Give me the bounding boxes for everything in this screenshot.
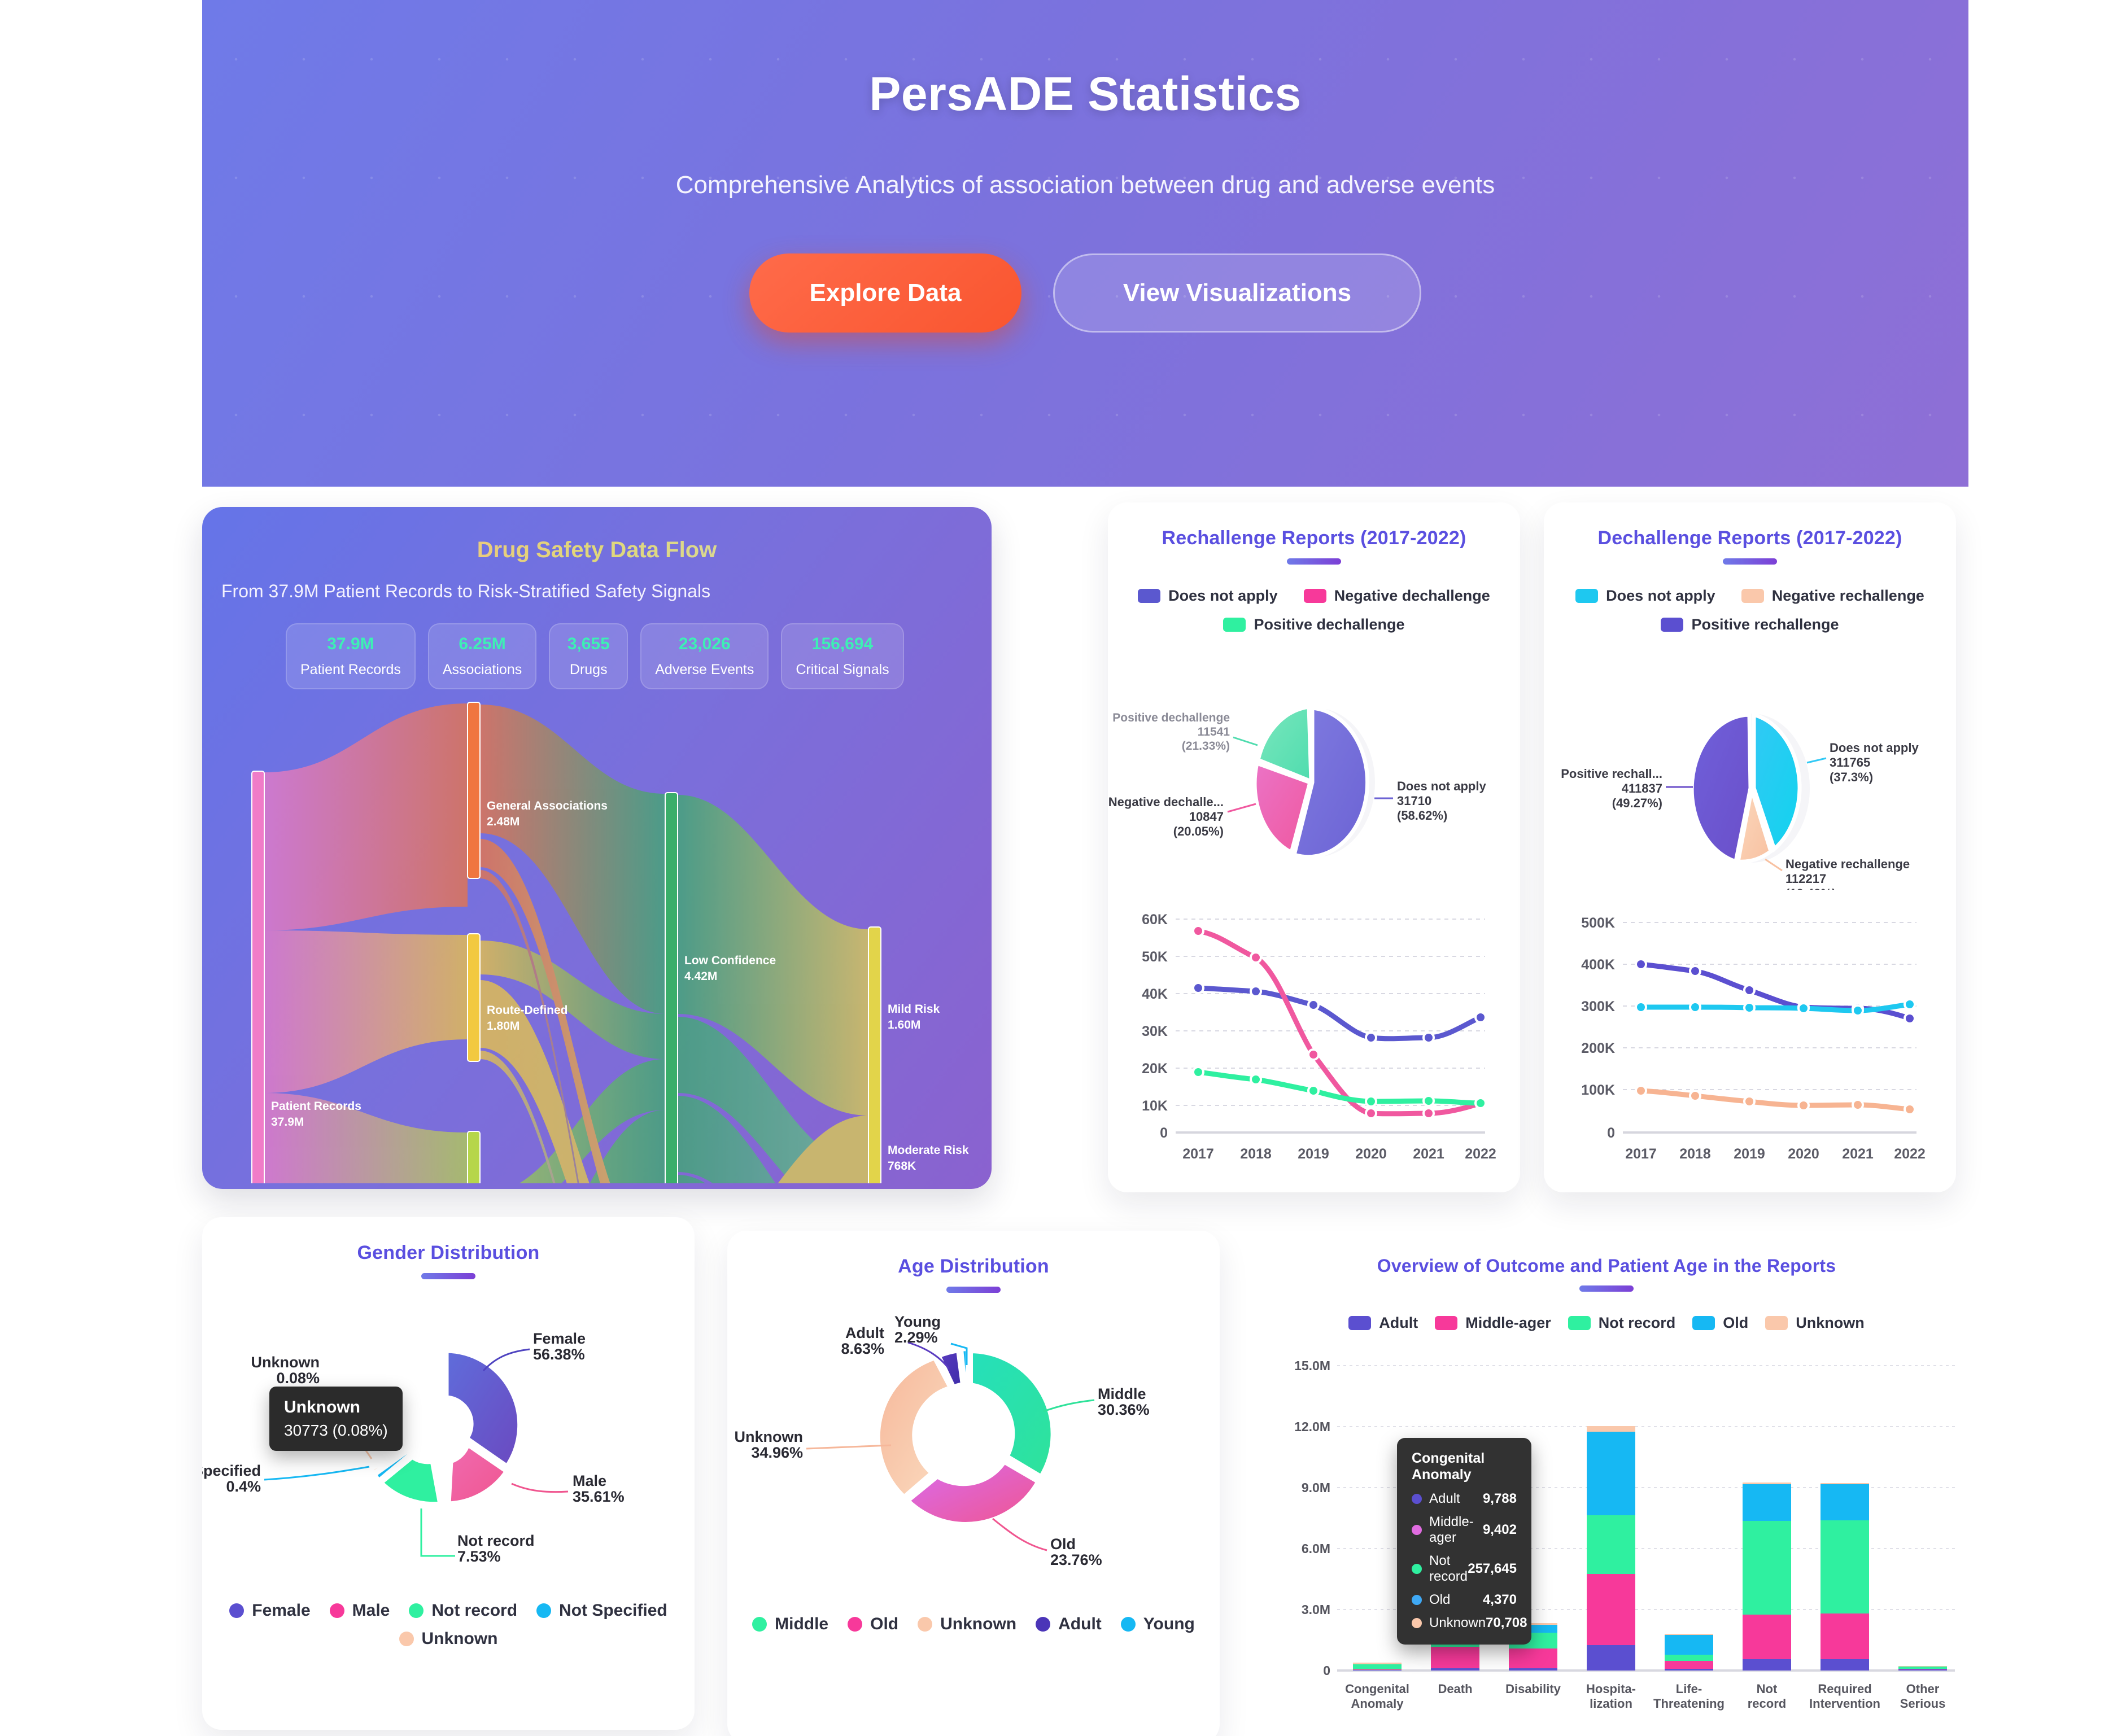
donut-pct-not-specified: 0.4% <box>226 1478 261 1495</box>
tooltip-title: Unknown <box>284 1398 388 1417</box>
pie-annotation-positive-pct: (49.27%) <box>1612 796 1662 810</box>
legend-label: Does not apply <box>1168 587 1278 605</box>
node-label-8: Mild Risk <box>888 1003 940 1016</box>
age-legend: Middle Old Unknown Adult Young <box>727 1615 1220 1634</box>
tooltip-dot <box>1412 1525 1422 1535</box>
rechallenge-line-chart: 60K50K 40K30K 20K10K 0 20172018 20192020… <box>1108 900 1520 1165</box>
pie-annotation-negative-value: 112217 <box>1785 872 1826 886</box>
xtick-hospitalization-2: lization <box>1590 1696 1632 1711</box>
legend-dot <box>1121 1617 1136 1632</box>
node-value-8: 1.60M <box>888 1018 920 1031</box>
tooltip-row-value: 4,370 <box>1483 1592 1517 1608</box>
stat-value: 156,694 <box>796 635 889 654</box>
title-underline <box>1579 1285 1634 1292</box>
gender-legend: Female Male Not record Not Specified Unk… <box>202 1601 695 1648</box>
outcome-title: Overview of Outcome and Patient Age in t… <box>1242 1231 1971 1276</box>
legend-label: Adult <box>1058 1615 1102 1634</box>
legend-item-does-not-apply[interactable]: Does not apply <box>1575 587 1715 605</box>
title-underline <box>1287 558 1341 565</box>
donut-label-not-record: Not record <box>457 1532 535 1549</box>
dechallenge-title: Dechallenge Reports (2017-2022) <box>1544 502 1956 549</box>
tooltip-row-label: Adult <box>1429 1491 1483 1507</box>
tooltip-row-label: Not record <box>1429 1553 1468 1585</box>
age-donut-wrap: Middle 30.36% Old 23.76% Unknown 34.96% … <box>727 1298 1220 1615</box>
hero-button-group: Explore Data View Visualizations <box>202 253 1968 333</box>
stat-label: Associations <box>443 662 522 678</box>
legend-item-unknown[interactable]: Unknown <box>918 1615 1016 1634</box>
legend-label: Middle-ager <box>1465 1314 1551 1332</box>
xtick-life-threatening-2: Threatening <box>1653 1696 1725 1711</box>
ytick-0: 0 <box>1607 1125 1615 1141</box>
ytick-9m: 9.0M <box>1302 1480 1330 1495</box>
sankey-stat-chips: 37.9M Patient Records 6.25M Associations… <box>286 623 992 689</box>
ytick-6m: 6.0M <box>1302 1541 1330 1556</box>
hero-banner: PersADE Statistics Comprehensive Analyti… <box>202 0 1968 487</box>
node-value-2: 1.80M <box>487 1020 519 1033</box>
legend-swatch <box>1692 1316 1715 1330</box>
page-title: PersADE Statistics <box>202 67 1968 121</box>
gender-donut-wrap: Female 56.38% Male 35.61% Not record 7.5… <box>202 1285 695 1601</box>
donut-label-female: Female <box>533 1330 586 1347</box>
legend-item-old[interactable]: Old <box>848 1615 898 1634</box>
dechallenge-pie-wrap: Does not apply 311765 (37.3%) Negative r… <box>1544 647 1956 890</box>
page-subtitle: Comprehensive Analytics of association b… <box>202 171 1968 199</box>
tooltip-row-value: 9,788 <box>1483 1491 1517 1507</box>
node-value-1: 2.48M <box>487 815 519 828</box>
node-label-1: General Associations <box>487 799 608 812</box>
ytick-40k: 40K <box>1142 986 1168 1002</box>
tooltip-row-label: Middle-ager <box>1429 1514 1483 1546</box>
rechallenge-line-wrap: 60K50K 40K30K 20K10K 0 20172018 20192020… <box>1108 900 1520 1165</box>
legend-label: Negative dechallenge <box>1334 587 1490 605</box>
tooltip-dot <box>1412 1494 1422 1504</box>
xtick-congenital-1: Congenital <box>1345 1682 1409 1696</box>
donut-pct-unknown: 0.08% <box>276 1370 320 1387</box>
age-donut-chart: Middle 30.36% Old 23.76% Unknown 34.96% … <box>727 1298 1220 1615</box>
donut-label-unknown: Unknown <box>251 1354 320 1371</box>
legend-swatch <box>1348 1316 1371 1330</box>
legend-item-positive-dechallenge[interactable]: Positive dechallenge <box>1223 616 1404 633</box>
legend-dot <box>752 1617 767 1632</box>
xtick-life-threatening-1: Life- <box>1676 1682 1702 1696</box>
rechallenge-title: Rechallenge Reports (2017-2022) <box>1108 502 1520 549</box>
legend-swatch <box>1304 589 1326 603</box>
legend-label: Old <box>1723 1314 1748 1332</box>
age-distribution-card: Age Distribution <box>727 1231 1220 1736</box>
legend-dot <box>229 1603 244 1618</box>
stat-label: Adverse Events <box>655 662 754 678</box>
xtick-2018: 2018 <box>1240 1146 1272 1162</box>
donut-pct-middle: 30.36% <box>1098 1401 1150 1418</box>
gender-title: Gender Distribution <box>202 1217 695 1264</box>
legend-label: Middle <box>775 1615 828 1634</box>
stat-value: 3,655 <box>564 635 613 654</box>
sankey-title: Drug Safety Data Flow <box>202 537 992 563</box>
pie-annotation-does-not-apply-label: Does not apply <box>1830 741 1919 755</box>
rechallenge-reports-card: Rechallenge Reports (2017-2022) Does not… <box>1108 502 1520 1192</box>
donut-label-young: Young <box>894 1313 941 1330</box>
legend-item-negative-rechallenge[interactable]: Negative rechallenge <box>1741 587 1924 605</box>
stat-value: 6.25M <box>443 635 522 654</box>
legend-item-old[interactable]: Old <box>1692 1314 1748 1332</box>
stat-label: Critical Signals <box>796 662 889 678</box>
legend-label: Not record <box>431 1601 517 1620</box>
stat-chip-adverse-events: 23,026 Adverse Events <box>640 623 769 689</box>
donut-label-middle: Middle <box>1098 1385 1146 1402</box>
ytick-300k: 300K <box>1581 999 1615 1015</box>
pie-annotation-positive-value: 11541 <box>1198 725 1230 738</box>
xtick-not-record-2: record <box>1748 1696 1786 1711</box>
gender-distribution-card: Gender Distribution <box>202 1217 695 1730</box>
legend-item-not-record[interactable]: Not record <box>1568 1314 1676 1332</box>
ytick-20k: 20K <box>1142 1061 1168 1077</box>
legend-item-does-not-apply[interactable]: Does not apply <box>1138 587 1278 605</box>
age-title: Age Distribution <box>727 1231 1220 1278</box>
legend-label: Unknown <box>422 1629 498 1648</box>
legend-label: Adult <box>1379 1314 1418 1332</box>
xtick-other-serious-1: Other <box>1906 1682 1940 1696</box>
node-label-9: Moderate Risk <box>888 1144 969 1157</box>
tooltip-row-value: 70,708 <box>1486 1615 1527 1631</box>
legend-swatch <box>1741 589 1764 603</box>
donut-pct-male: 35.61% <box>573 1488 625 1505</box>
legend-dot <box>330 1603 344 1618</box>
drug-safety-data-flow-card: Drug Safety Data Flow From 37.9M Patient… <box>202 507 992 1189</box>
stat-label: Drugs <box>564 662 613 678</box>
bar-group-other-serious[interactable] <box>1898 1666 1947 1671</box>
stat-chip-patient-records: 37.9M Patient Records <box>286 623 416 689</box>
node-label-5: Low Confidence <box>684 954 776 967</box>
tooltip-dot <box>1412 1564 1422 1574</box>
legend-label: Unknown <box>1796 1314 1865 1332</box>
stat-chip-associations: 6.25M Associations <box>428 623 536 689</box>
legend-dot <box>918 1617 932 1632</box>
pie-annotation-positive-pct: (21.33%) <box>1182 740 1230 753</box>
sankey-subtitle: From 37.9M Patient Records to Risk-Strat… <box>221 581 992 602</box>
dechallenge-line-chart: 500K400K 300K200K 100K0 20172018 2019202… <box>1544 900 1956 1165</box>
outcome-legend: Adult Middle-ager Not record Old Unknown <box>1242 1314 1971 1332</box>
legend-item-middle-ager[interactable]: Middle-ager <box>1435 1314 1551 1332</box>
donut-pct-young: 2.29% <box>894 1329 938 1346</box>
xtick-required-1: Required <box>1818 1682 1871 1696</box>
xtick-2017: 2017 <box>1625 1146 1657 1162</box>
legend-swatch <box>1575 589 1598 603</box>
tooltip-row-value: 257,645 <box>1468 1561 1517 1577</box>
pie-annotation-negative-pct: (13.43%) <box>1785 886 1836 890</box>
legend-label: Positive dechallenge <box>1254 616 1404 633</box>
donut-pct-adult: 8.63% <box>841 1340 884 1357</box>
legend-swatch <box>1568 1316 1591 1330</box>
tooltip-row-not-record: Not record 257,645 <box>1412 1553 1517 1585</box>
donut-pct-old: 23.76% <box>1050 1551 1102 1568</box>
xtick-2018: 2018 <box>1679 1146 1711 1162</box>
tooltip-row-unknown: Unknown 70,708 <box>1412 1615 1517 1631</box>
ytick-3m: 3.0M <box>1302 1602 1330 1617</box>
bar-group-hospitalization[interactable] <box>1587 1426 1635 1671</box>
node-value-9: 768K <box>888 1160 916 1173</box>
tooltip-row-label: Old <box>1429 1592 1483 1608</box>
dechallenge-reports-card: Dechallenge Reports (2017-2022) Does not… <box>1544 502 1956 1192</box>
tooltip-row-value: 9,402 <box>1483 1522 1517 1538</box>
title-underline <box>946 1287 1001 1293</box>
outcome-tooltip: Congenital Anomaly Adult 9,788 Middle-ag… <box>1397 1438 1531 1645</box>
pie-annotation-negative-label: Negative dechalle... <box>1108 795 1224 809</box>
ytick-50k: 50K <box>1142 949 1168 965</box>
legend-item-unknown[interactable]: Unknown <box>1765 1314 1865 1332</box>
pie-annotation-positive-label: Positive rechall... <box>1561 767 1662 781</box>
rechallenge-pie-chart: Does not apply 31710 (58.62%) Negative d… <box>1108 647 1520 890</box>
node-value-0: 37.9M <box>271 1116 304 1129</box>
ytick-12m: 12.0M <box>1294 1419 1330 1434</box>
legend-item-positive-rechallenge[interactable]: Positive rechallenge <box>1661 616 1839 633</box>
pie-annotation-negative-value: 10847 <box>1189 810 1224 824</box>
tooltip-value: 30773 (0.08%) <box>284 1422 388 1440</box>
donut-pct-female: 56.38% <box>533 1346 585 1363</box>
legend-label: Male <box>352 1601 390 1620</box>
legend-swatch <box>1435 1316 1457 1330</box>
legend-label: Negative rechallenge <box>1772 587 1924 605</box>
pie-annotation-positive-value: 411837 <box>1622 781 1662 795</box>
rechallenge-legend: Does not apply Negative dechallenge Posi… <box>1108 587 1520 633</box>
legend-label: Female <box>252 1601 310 1620</box>
outcome-bar-chart: 15.0M 12.0M 9.0M 6.0M 3.0M 0 <box>1242 1332 1971 1721</box>
stat-value: 23,026 <box>655 635 754 654</box>
legend-label: Does not apply <box>1606 587 1715 605</box>
donut-pct-not-record: 7.53% <box>457 1548 501 1565</box>
xtick-2017: 2017 <box>1182 1146 1214 1162</box>
xtick-not-record-1: Not <box>1757 1682 1778 1696</box>
ytick-30k: 30K <box>1142 1024 1168 1039</box>
node-value-5: 4.42M <box>684 970 717 983</box>
legend-item-middle[interactable]: Middle <box>752 1615 828 1634</box>
view-visualizations-button[interactable]: View Visualizations <box>1053 253 1421 333</box>
legend-item-unknown[interactable]: Unknown <box>399 1629 498 1648</box>
stat-label: Patient Records <box>300 662 401 678</box>
donut-label-male: Male <box>573 1472 606 1489</box>
outcome-age-overview-card: Overview of Outcome and Patient Age in t… <box>1242 1231 1971 1736</box>
legend-swatch <box>1138 589 1160 603</box>
xtick-2019: 2019 <box>1298 1146 1329 1162</box>
stat-chip-drugs: 3,655 Drugs <box>549 623 628 689</box>
node-label-0: Patient Records <box>271 1100 361 1113</box>
legend-item-negative-dechallenge[interactable]: Negative dechallenge <box>1304 587 1490 605</box>
pie-annotation-does-not-apply-pct: (37.3%) <box>1830 770 1873 784</box>
ytick-200k: 200K <box>1581 1040 1615 1056</box>
ytick-100k: 100K <box>1581 1082 1615 1098</box>
xtick-2020: 2020 <box>1355 1146 1387 1162</box>
gender-tooltip: Unknown 30773 (0.08%) <box>269 1387 403 1451</box>
xtick-other-serious-2: Serious <box>1900 1696 1946 1711</box>
legend-label: Not record <box>1599 1314 1676 1332</box>
xtick-2022: 2022 <box>1894 1146 1926 1162</box>
stat-chip-critical-signals: 156,694 Critical Signals <box>781 623 903 689</box>
xtick-death: Death <box>1438 1682 1472 1696</box>
dashboard-page: PersADE Statistics Comprehensive Analyti… <box>0 0 2113 1736</box>
legend-dot <box>409 1603 424 1618</box>
bar-group-congenital-anomaly[interactable] <box>1353 1663 1402 1671</box>
tooltip-dot <box>1412 1618 1422 1628</box>
ytick-15m: 15.0M <box>1294 1358 1330 1373</box>
bar-group-required-intervention[interactable] <box>1821 1483 1869 1671</box>
legend-label: Young <box>1143 1615 1195 1634</box>
legend-swatch <box>1765 1316 1788 1330</box>
ytick-500k: 500K <box>1581 915 1615 931</box>
bar-group-not-record[interactable] <box>1743 1483 1791 1671</box>
dechallenge-line-wrap: 500K400K 300K200K 100K0 20172018 2019202… <box>1544 900 1956 1165</box>
xtick-required-2: Intervention <box>1809 1696 1880 1711</box>
ytick-60k: 60K <box>1142 912 1168 928</box>
xtick-disability: Disability <box>1505 1682 1561 1696</box>
tooltip-row-label: Unknown <box>1429 1615 1486 1631</box>
title-underline <box>1723 558 1777 565</box>
legend-dot <box>848 1617 862 1632</box>
tooltip-row-middle-ager: Middle-ager 9,402 <box>1412 1514 1517 1546</box>
ytick-10k: 10K <box>1142 1098 1168 1114</box>
legend-item-adult[interactable]: Adult <box>1036 1615 1102 1634</box>
legend-label: Positive rechallenge <box>1691 616 1839 633</box>
ytick-400k: 400K <box>1581 957 1615 973</box>
sankey-diagram: Patient Records 37.9M General Associatio… <box>202 698 992 1183</box>
tooltip-dot <box>1412 1595 1422 1605</box>
tooltip-title: Congenital Anomaly <box>1412 1450 1517 1483</box>
legend-label: Unknown <box>940 1615 1016 1634</box>
xtick-2021: 2021 <box>1842 1146 1874 1162</box>
pie-annotation-does-not-apply-pct: (58.62%) <box>1397 808 1447 823</box>
xtick-congenital-2: Anomaly <box>1351 1696 1404 1711</box>
pie-annotation-negative-label: Negative rechallenge <box>1785 857 1910 871</box>
donut-label-adult: Adult <box>845 1324 884 1341</box>
pie-annotation-negative-pct: (20.05%) <box>1173 824 1224 838</box>
legend-item-young[interactable]: Young <box>1121 1615 1195 1634</box>
xtick-2021: 2021 <box>1413 1146 1444 1162</box>
pie-annotation-does-not-apply-value: 311765 <box>1830 755 1870 769</box>
tooltip-row-adult: Adult 9,788 <box>1412 1491 1517 1507</box>
node-label-2: Route-Defined <box>487 1004 568 1017</box>
legend-dot <box>1036 1617 1050 1632</box>
donut-label-unknown: Unknown <box>735 1428 804 1445</box>
dechallenge-legend: Does not apply Negative rechallenge Posi… <box>1544 587 1956 633</box>
legend-swatch <box>1661 618 1683 632</box>
donut-pct-unknown: 34.96% <box>751 1444 803 1461</box>
legend-item-female[interactable]: Female <box>229 1601 310 1620</box>
xtick-hospitalization-1: Hospita- <box>1586 1682 1636 1696</box>
pie-annotation-does-not-apply-label: Does not apply <box>1397 779 1486 793</box>
legend-item-not-specified[interactable]: Not Specified <box>536 1601 667 1620</box>
legend-item-not-record[interactable]: Not record <box>409 1601 517 1620</box>
pie-annotation-does-not-apply-value: 31710 <box>1397 794 1431 808</box>
legend-dot <box>536 1603 551 1618</box>
legend-item-adult[interactable]: Adult <box>1348 1314 1418 1332</box>
dechallenge-pie-chart: Does not apply 311765 (37.3%) Negative r… <box>1544 647 1956 890</box>
explore-data-button[interactable]: Explore Data <box>749 253 1021 333</box>
xtick-2019: 2019 <box>1734 1146 1765 1162</box>
legend-label: Old <box>870 1615 898 1634</box>
bar-group-life-threatening[interactable] <box>1665 1634 1713 1671</box>
donut-label-not-specified: Not Specified <box>202 1462 261 1479</box>
legend-dot <box>399 1632 414 1646</box>
stat-value: 37.9M <box>300 635 401 654</box>
ytick-0: 0 <box>1323 1663 1330 1678</box>
rechallenge-pie-wrap: Does not apply 31710 (58.62%) Negative d… <box>1108 647 1520 890</box>
xtick-2022: 2022 <box>1465 1146 1496 1162</box>
tooltip-row-old: Old 4,370 <box>1412 1592 1517 1608</box>
donut-label-old: Old <box>1050 1536 1076 1553</box>
xtick-2020: 2020 <box>1788 1146 1819 1162</box>
legend-item-male[interactable]: Male <box>330 1601 390 1620</box>
pie-annotation-positive-label: Positive dechallenge <box>1112 711 1230 724</box>
legend-label: Not Specified <box>559 1601 667 1620</box>
title-underline <box>421 1273 475 1279</box>
legend-swatch <box>1223 618 1246 632</box>
ytick-0: 0 <box>1160 1125 1168 1141</box>
